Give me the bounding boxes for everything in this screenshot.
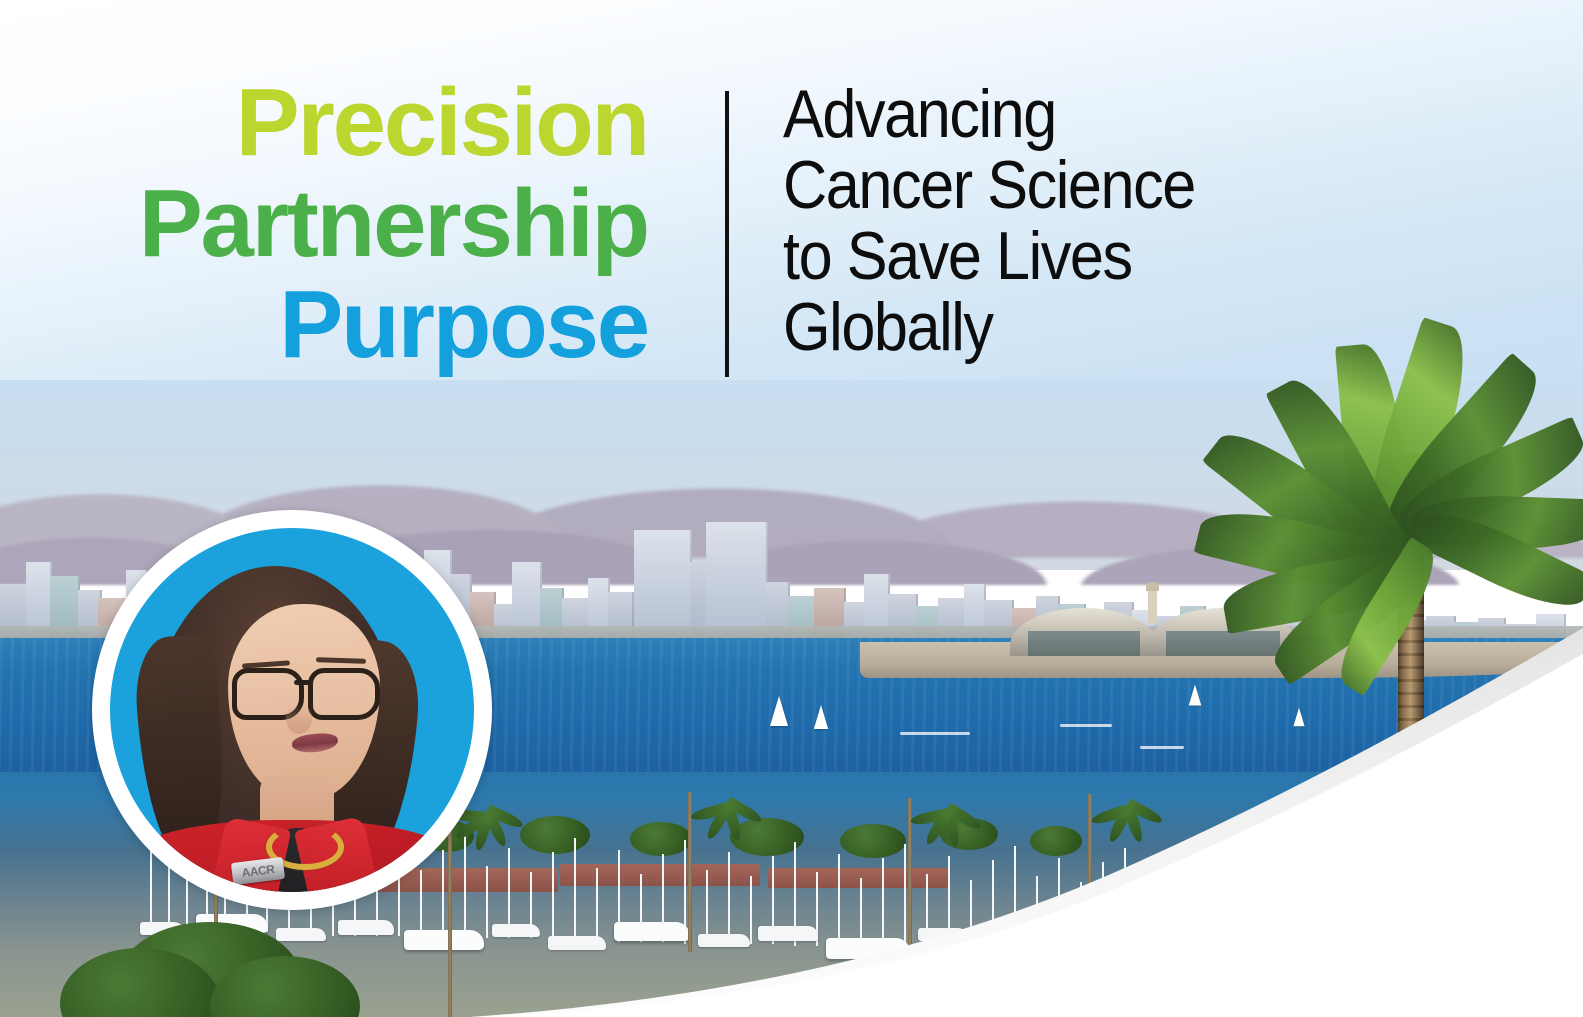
title-line-precision: Precision [0,72,660,173]
vertical-divider [725,91,729,377]
boat-wake [1140,746,1184,749]
nose [286,704,312,734]
title-line-purpose: Purpose [0,274,660,375]
aacr-pin-label: AACR [241,862,275,880]
title-line-partnership: Partnership [0,173,660,274]
sailboat [1293,708,1304,727]
boat-wake [900,732,970,735]
palm-tree-small [660,792,720,952]
palm-tree-small [1060,794,1120,974]
headline-subtitle: Advancing Cancer Science to Save Lives G… [783,79,1303,363]
subtitle-line-3: to Save Lives [783,221,1251,292]
portrait-photo: AACR [110,528,474,892]
sailboat [770,696,788,726]
promo-banner: AACR Precision Partnership Purpose Advan… [0,0,1583,1017]
subtitle-line-1: Advancing [783,79,1251,150]
headline-title: Precision Partnership Purpose [0,72,660,375]
subtitle-line-2: Cancer Science [783,150,1251,221]
subtitle-line-4: Globally [783,292,1251,363]
clock-tower [1148,590,1157,624]
sailboat [814,705,828,729]
palm-tree-small [880,798,940,968]
speaker-portrait: AACR [92,510,492,910]
sailboat [1189,685,1202,706]
boat-wake [1060,724,1112,727]
